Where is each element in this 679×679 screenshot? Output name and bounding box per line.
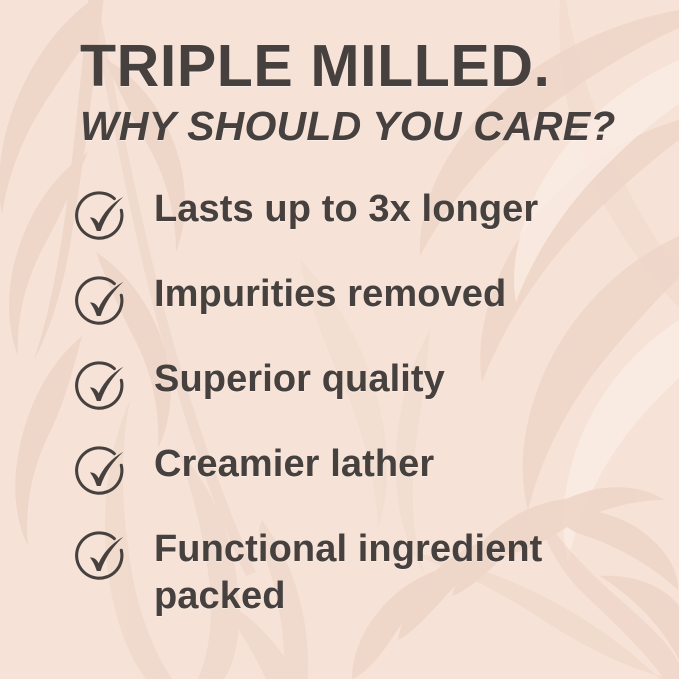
- list-item: Lasts up to 3x longer: [74, 186, 654, 271]
- list-item: Superior quality: [74, 356, 654, 441]
- check-circle-icon: [74, 529, 132, 587]
- header-block: TRIPLE MILLED. WHY SHOULD YOU CARE?: [80, 36, 650, 150]
- list-item: Impurities removed: [74, 271, 654, 356]
- check-circle-icon: [74, 189, 132, 247]
- check-circle-icon: [74, 444, 132, 502]
- list-item: Functional ingredient packed: [74, 526, 654, 611]
- infographic-canvas: TRIPLE MILLED. WHY SHOULD YOU CARE? Last…: [0, 0, 679, 679]
- benefit-label: Creamier lather: [154, 441, 654, 488]
- check-circle-icon: [74, 359, 132, 417]
- benefit-label: Impurities removed: [154, 271, 654, 318]
- benefit-label: Superior quality: [154, 356, 654, 403]
- check-circle-icon: [74, 274, 132, 332]
- benefits-list: Lasts up to 3x longer Impurities removed…: [74, 186, 654, 611]
- list-item: Creamier lather: [74, 441, 654, 526]
- benefit-label: Lasts up to 3x longer: [154, 186, 654, 233]
- benefit-label: Functional ingredient packed: [154, 526, 654, 620]
- page-subtitle: WHY SHOULD YOU CARE?: [80, 102, 650, 150]
- page-title: TRIPLE MILLED.: [80, 36, 650, 96]
